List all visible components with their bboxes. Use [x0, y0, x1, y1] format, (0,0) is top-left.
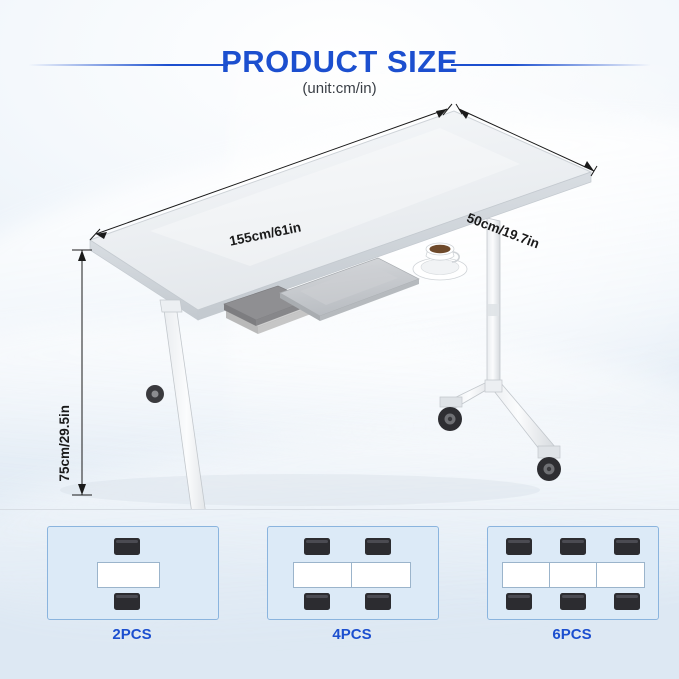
dimension-line-height	[72, 250, 92, 495]
config-2pcs-caption: 2PCS	[47, 626, 217, 643]
config-4pcs-panel	[267, 526, 439, 620]
chair	[114, 593, 140, 610]
chair	[560, 538, 586, 555]
product-size-infographic: PRODUCT SIZE (unit:cm/in)	[0, 0, 679, 679]
config-6pcs-panel	[487, 526, 659, 620]
table-unit	[549, 562, 598, 588]
chair	[114, 538, 140, 555]
section-divider	[0, 509, 679, 510]
table-unit	[351, 562, 411, 588]
height-label: 75cm/29.5in	[57, 405, 71, 482]
chair	[506, 593, 532, 610]
chair	[614, 593, 640, 610]
coffee-cup	[413, 243, 467, 280]
page-title: PRODUCT SIZE	[0, 44, 679, 80]
configuration-cards: 2PCS 4PCS	[0, 520, 679, 660]
chair	[506, 538, 532, 555]
config-2pcs-panel	[47, 526, 219, 620]
chair	[365, 593, 391, 610]
chair	[304, 593, 330, 610]
chair	[304, 538, 330, 555]
header: PRODUCT SIZE (unit:cm/in)	[0, 20, 679, 90]
table-unit	[502, 562, 551, 588]
chair	[365, 538, 391, 555]
config-6pcs: 6PCS	[487, 526, 657, 618]
product-illustration: 155cm/61in 50cm/19.7in 75cm/29.5in	[0, 90, 679, 510]
table-unit	[293, 562, 353, 588]
caster-rear-right	[537, 446, 561, 481]
config-2pcs: 2PCS	[47, 526, 217, 618]
config-4pcs: 4PCS	[267, 526, 437, 618]
chair	[614, 538, 640, 555]
table-unit	[97, 562, 160, 588]
table-svg	[0, 90, 679, 510]
caster-rear-left	[438, 397, 462, 431]
table-unit	[596, 562, 645, 588]
config-6pcs-caption: 6PCS	[487, 626, 657, 643]
chair	[560, 593, 586, 610]
config-4pcs-caption: 4PCS	[267, 626, 437, 643]
